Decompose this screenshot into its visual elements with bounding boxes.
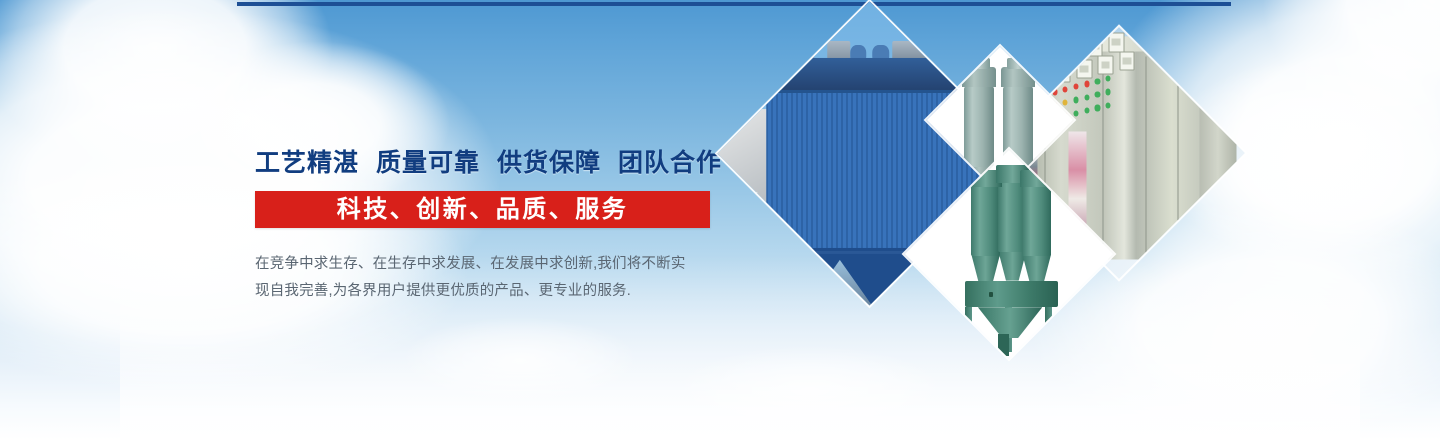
cylinder-vent-cap [1007,58,1029,69]
body-line-1: 在竞争中求生存、在生存中求发展、在发展中求创新,我们将不断实 [255,251,795,278]
panel-meter [1098,56,1114,75]
top-divider-rule [237,2,1231,6]
cyclone-discharge-outlet [998,334,1009,356]
cylinder-head [1001,67,1035,87]
baghouse-mast [805,15,807,60]
indicator-lamp [1074,97,1079,103]
indicator-lamp [1052,89,1057,95]
cabinet-door-seam [1178,57,1179,255]
cloud-right-top [1240,0,1440,140]
headline-segment-4: 团队合作 [618,149,722,177]
cabinet-door-seam [1146,57,1147,255]
headline-segment-3: 供货保障 [497,149,601,177]
cloud-wisp-lower-left [370,300,670,420]
indicator-lamp [1106,89,1111,95]
indicator-lamp [1095,92,1100,98]
slogan-text: 科技、创新、品质、服务 [337,191,629,228]
banner-copy-block: 工艺精湛质量可靠供货保障团队合作 科技、创新、品质、服务 在竞争中求生存、在生存… [255,146,795,305]
panel-meter [1076,60,1092,79]
indicator-lamp [1084,94,1089,100]
headline-segment-2: 质量可靠 [376,149,480,177]
banner-headline: 工艺精湛质量可靠供货保障团队合作 [255,146,795,180]
panel-meter [1087,37,1103,56]
panel-meter [1044,45,1060,64]
cyclone-support-leg [965,307,973,351]
body-line-2: 现自我完善,为各界用户提供更优质的产品、更专业的服务. [255,278,795,305]
indicator-lamp [1095,105,1100,111]
cabinet-door-seam [1103,57,1104,255]
cylinder-vent-cap [968,58,990,69]
cyclone-tube [971,185,1000,256]
cyclone-support-leg [1045,307,1053,351]
cyclone-tube [1022,185,1051,256]
panel-meter [1108,33,1124,52]
cabinet-far-unit [1199,89,1236,223]
indicator-lamp [1084,108,1089,114]
product-photo-collage [740,30,1210,400]
cylinder-head [962,67,996,87]
indicator-lamp [1084,81,1089,87]
banner-body-copy: 在竞争中求生存、在生存中求发展、在发展中求创新,我们将不断实 现自我完善,为各界… [255,251,795,305]
cyclone-collection-drum [965,281,1058,308]
panel-meter [1119,52,1135,71]
panel-meter [1055,64,1071,83]
cylinder-shell [964,86,994,167]
slogan-band: 科技、创新、品质、服务 [255,191,710,228]
indicator-lamp [1095,78,1100,84]
panel-meter [1066,41,1082,60]
headline-segment-1: 工艺精湛 [255,149,359,177]
hero-banner: 工艺精湛质量可靠供货保障团队合作 科技、创新、品质、服务 在竞争中求生存、在生存… [0,0,1440,440]
panel-meter [1023,49,1039,68]
